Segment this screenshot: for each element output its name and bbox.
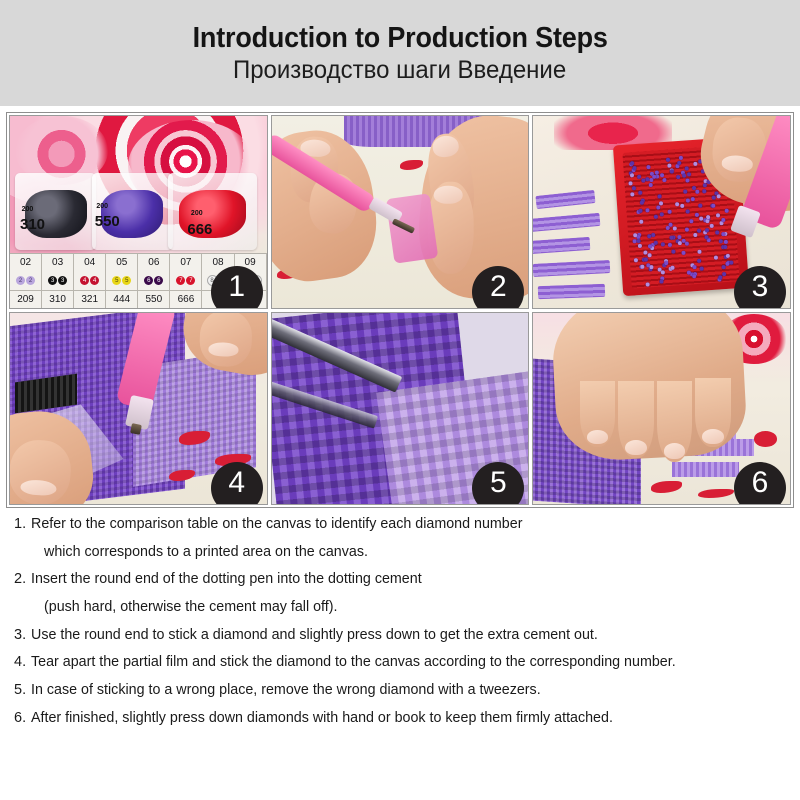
tray-diamond xyxy=(693,161,697,165)
tray-diamond xyxy=(684,166,688,170)
production-steps-infographic: Introduction to Production Steps Произво… xyxy=(0,0,800,800)
tray-diamond xyxy=(673,226,677,230)
tray-diamond xyxy=(629,173,633,177)
tray-diamond xyxy=(667,163,671,167)
tray-diamond xyxy=(640,265,644,269)
tray-diamond xyxy=(723,245,727,249)
instruction-number: 5. xyxy=(14,682,31,699)
tray-diamond xyxy=(698,203,702,207)
tray-diamond xyxy=(697,259,701,263)
tray-diamond xyxy=(694,212,698,216)
tray-diamond xyxy=(711,204,715,208)
diamond-color-dot: 2 xyxy=(16,276,25,285)
tray-diamond xyxy=(722,265,726,269)
finger xyxy=(618,381,654,458)
tray-diamond xyxy=(724,240,728,244)
tray-diamond xyxy=(638,190,642,194)
tray-diamond xyxy=(646,282,650,286)
table-symbol-cell: 22 xyxy=(10,272,42,290)
step-tile-4: 4 xyxy=(9,312,268,506)
fingernail xyxy=(625,440,647,455)
tray-diamond xyxy=(675,202,679,206)
tray-diamond xyxy=(670,169,674,173)
instruction-number: 3. xyxy=(14,627,31,644)
fingernail xyxy=(21,479,58,497)
tray-diamond xyxy=(702,189,706,193)
tray-diamond xyxy=(677,241,681,245)
tray-diamond xyxy=(686,209,690,213)
diamond-color-dot: 3 xyxy=(48,276,57,285)
mosaic-row xyxy=(672,462,739,477)
diamond-color-dot: 2 xyxy=(26,276,35,285)
instruction-line: 5.In case of sticking to a wrong place, … xyxy=(14,682,792,699)
instruction-text: In case of sticking to a wrong place, re… xyxy=(31,682,781,699)
tray-diamond xyxy=(715,231,719,235)
steps-photo-grid: 200 310 200 550 200 666 xyxy=(6,112,794,508)
table-code-cell: 310 xyxy=(42,290,74,308)
table-column-header: 04 xyxy=(74,254,106,272)
bag-code-3: 666 xyxy=(187,221,212,238)
tray-diamond xyxy=(721,218,725,222)
diamond-color-dot: 7 xyxy=(186,276,195,285)
tray-diamond xyxy=(729,260,733,264)
instruction-text: After finished, slightly press down diam… xyxy=(31,710,781,727)
step-tile-5: 5 xyxy=(271,312,530,506)
tray-diamond xyxy=(695,190,699,194)
tray-diamond xyxy=(676,175,680,179)
tray-diamond xyxy=(638,244,642,248)
tray-diamond xyxy=(666,226,670,230)
header-banner: Introduction to Production Steps Произво… xyxy=(0,0,800,106)
tray-diamond xyxy=(645,208,649,212)
tray-diamond xyxy=(709,224,713,228)
diamond-color-dot: 3 xyxy=(58,276,67,285)
finger xyxy=(580,381,616,446)
tray-diamond xyxy=(687,270,691,274)
instruction-number: 2. xyxy=(14,571,31,588)
tray-diamond xyxy=(659,201,663,205)
tray-diamond xyxy=(716,213,720,217)
instruction-text: which corresponds to a printed area on t… xyxy=(44,544,781,561)
table-symbol-cell: 33 xyxy=(42,272,74,290)
tray-diamond xyxy=(651,233,655,237)
table-code-cell: 550 xyxy=(138,290,170,308)
tray-diamond xyxy=(693,265,697,269)
tray-diamond xyxy=(671,250,675,254)
bag-count-3: 200 xyxy=(191,210,203,217)
table-column-header: 05 xyxy=(106,254,138,272)
finger xyxy=(695,378,731,447)
fingernail xyxy=(433,185,462,203)
tray-diamond xyxy=(668,209,672,213)
diamond-bag-550: 200 550 xyxy=(92,173,173,250)
tray-diamond xyxy=(680,204,684,208)
tray-diamond xyxy=(691,197,695,201)
instruction-text: Insert the round end of the dotting pen … xyxy=(31,571,781,588)
fingernail xyxy=(664,443,686,459)
table-symbol-cell: 77 xyxy=(170,272,202,290)
tray-diamond xyxy=(706,219,710,223)
finger xyxy=(9,438,74,505)
instruction-line: 4.Tear apart the partial film and stick … xyxy=(14,654,792,671)
step-badge-4: 4 xyxy=(211,462,263,505)
tray-diamond xyxy=(661,270,665,274)
tray-diamond xyxy=(666,157,670,161)
step-tile-2: 2 xyxy=(271,115,530,309)
mosaic-stripe xyxy=(538,283,605,299)
red-petal-print xyxy=(754,431,777,446)
table-code-cell: 209 xyxy=(10,290,42,308)
table-column-header: 07 xyxy=(170,254,202,272)
instruction-line: 1.Refer to the comparison table on the c… xyxy=(14,516,792,533)
table-column-header: 03 xyxy=(42,254,74,272)
bag-code-2: 550 xyxy=(95,213,120,230)
tray-diamond xyxy=(662,178,666,182)
tray-diamond xyxy=(639,219,643,223)
tray-diamond xyxy=(700,266,704,270)
fingernail xyxy=(430,134,459,159)
instruction-text: Refer to the comparison table on the can… xyxy=(31,516,781,533)
tray-diamond xyxy=(705,228,709,232)
tray-diamond xyxy=(654,214,658,218)
bag-count-1: 200 xyxy=(22,206,34,213)
tray-diamond xyxy=(721,232,725,236)
tray-diamond xyxy=(634,258,638,262)
tray-diamond xyxy=(685,179,689,183)
fingernail xyxy=(702,429,724,444)
instruction-text: Tear apart the partial film and stick th… xyxy=(31,654,781,671)
fingernail xyxy=(587,430,609,444)
tray-diamond xyxy=(697,229,701,233)
diamond-color-dot: 6 xyxy=(144,276,153,285)
table-symbol-cell: 55 xyxy=(106,272,138,290)
tray-diamond xyxy=(630,162,634,166)
instruction-number: 4. xyxy=(14,654,31,671)
tray-diamond xyxy=(639,201,643,205)
table-symbol-cell: 66 xyxy=(138,272,170,290)
tray-diamond xyxy=(724,209,728,213)
tray-diamond xyxy=(706,215,710,219)
tray-diamond xyxy=(657,194,661,198)
diamond-bag-310: 200 310 xyxy=(15,173,96,250)
table-column-header: 06 xyxy=(138,254,170,272)
instruction-line: 2.Insert the round end of the dotting pe… xyxy=(14,571,792,588)
tray-diamond xyxy=(648,244,652,248)
page-title: Introduction to Production Steps xyxy=(192,23,607,53)
tray-diamond xyxy=(677,235,681,239)
tray-diamond xyxy=(661,242,665,246)
tray-diamond xyxy=(633,233,637,237)
tray-diamond xyxy=(686,198,690,202)
instruction-number: 6. xyxy=(14,710,31,727)
tray-diamond xyxy=(641,178,645,182)
instruction-number: 1. xyxy=(14,516,31,533)
tray-diamond xyxy=(719,239,723,243)
tray-diamond xyxy=(664,261,668,265)
tray-diamond xyxy=(682,251,686,255)
tray-diamond xyxy=(647,165,651,169)
tray-diamond xyxy=(711,195,715,199)
diamond-bag-row: 200 310 200 550 200 666 xyxy=(15,173,261,250)
tray-diamond xyxy=(668,242,672,246)
diamond-color-dot: 5 xyxy=(112,276,121,285)
instruction-line: (push hard, otherwise the cement may fal… xyxy=(14,599,792,616)
page-subtitle: Производство шаги Введение xyxy=(233,57,566,83)
tray-diamond xyxy=(689,219,693,223)
step-tile-3: 3 xyxy=(532,115,791,309)
tray-diamond xyxy=(654,241,658,245)
finger xyxy=(657,381,693,461)
tray-diamond xyxy=(702,183,706,187)
step-badge-6: 6 xyxy=(734,462,786,505)
instruction-line: which corresponds to a printed area on t… xyxy=(14,544,792,561)
tray-diamond xyxy=(722,272,726,276)
instructions-list: 1.Refer to the comparison table on the c… xyxy=(14,516,792,737)
tray-diamond xyxy=(628,181,632,185)
tray-diamond xyxy=(714,255,718,259)
tray-diamond xyxy=(632,186,636,190)
fingernail xyxy=(208,343,239,357)
tray-diamond xyxy=(644,258,648,262)
table-symbol-cell: 44 xyxy=(74,272,106,290)
tray-diamond xyxy=(685,228,689,232)
tray-diamond xyxy=(687,173,691,177)
tray-diamond xyxy=(656,205,660,209)
diamond-color-dot: 5 xyxy=(122,276,131,285)
tray-diamond xyxy=(630,192,634,196)
instruction-text: Use the round end to stick a diamond and… xyxy=(31,627,781,644)
tray-diamond xyxy=(697,250,701,254)
table-code-cell: 321 xyxy=(74,290,106,308)
tray-diamond xyxy=(660,212,664,216)
tray-diamond xyxy=(637,175,641,179)
diamond-bag-666: 200 666 xyxy=(168,173,257,250)
tray-diamond xyxy=(650,265,654,269)
tray-diamond xyxy=(679,156,683,160)
instruction-line: 6.After finished, slightly press down di… xyxy=(14,710,792,727)
diamond-color-dot: 4 xyxy=(90,276,99,285)
tray-diamond xyxy=(726,253,730,257)
instruction-line: 3.Use the round end to stick a diamond a… xyxy=(14,627,792,644)
tray-diamond xyxy=(684,189,688,193)
table-column-header: 02 xyxy=(10,254,42,272)
tray-diamond xyxy=(725,261,729,265)
tray-diamond xyxy=(704,235,708,239)
tray-diamond xyxy=(693,232,697,236)
finger xyxy=(198,312,252,369)
tray-diamond xyxy=(677,161,681,165)
tray-diamond xyxy=(633,166,637,170)
tray-diamond xyxy=(647,234,651,238)
table-code-cell: 666 xyxy=(170,290,202,308)
tray-diamond xyxy=(649,183,653,187)
tray-diamond xyxy=(685,241,689,245)
tray-diamond xyxy=(671,266,675,270)
tray-diamond xyxy=(717,194,721,198)
tray-diamond xyxy=(647,253,651,257)
fingernail xyxy=(720,155,752,172)
step-tile-6: 6 xyxy=(532,312,791,506)
bag-count-2: 200 xyxy=(96,203,108,210)
diamond-color-dot: 7 xyxy=(176,276,185,285)
instruction-text: (push hard, otherwise the cement may fal… xyxy=(44,599,781,616)
tray-diamond xyxy=(637,239,641,243)
tray-diamond xyxy=(660,173,664,177)
table-code-cell: 444 xyxy=(106,290,138,308)
bag-code-1: 310 xyxy=(20,216,45,233)
step-tile-1: 200 310 200 550 200 666 xyxy=(9,115,268,309)
tray-diamond xyxy=(649,178,653,182)
tray-diamond xyxy=(638,209,642,213)
tray-diamond xyxy=(643,250,647,254)
diamond-color-dot: 6 xyxy=(154,276,163,285)
diamond-color-dot: 4 xyxy=(80,276,89,285)
pen-metal-nib xyxy=(130,423,142,434)
tray-diamond xyxy=(691,186,695,190)
